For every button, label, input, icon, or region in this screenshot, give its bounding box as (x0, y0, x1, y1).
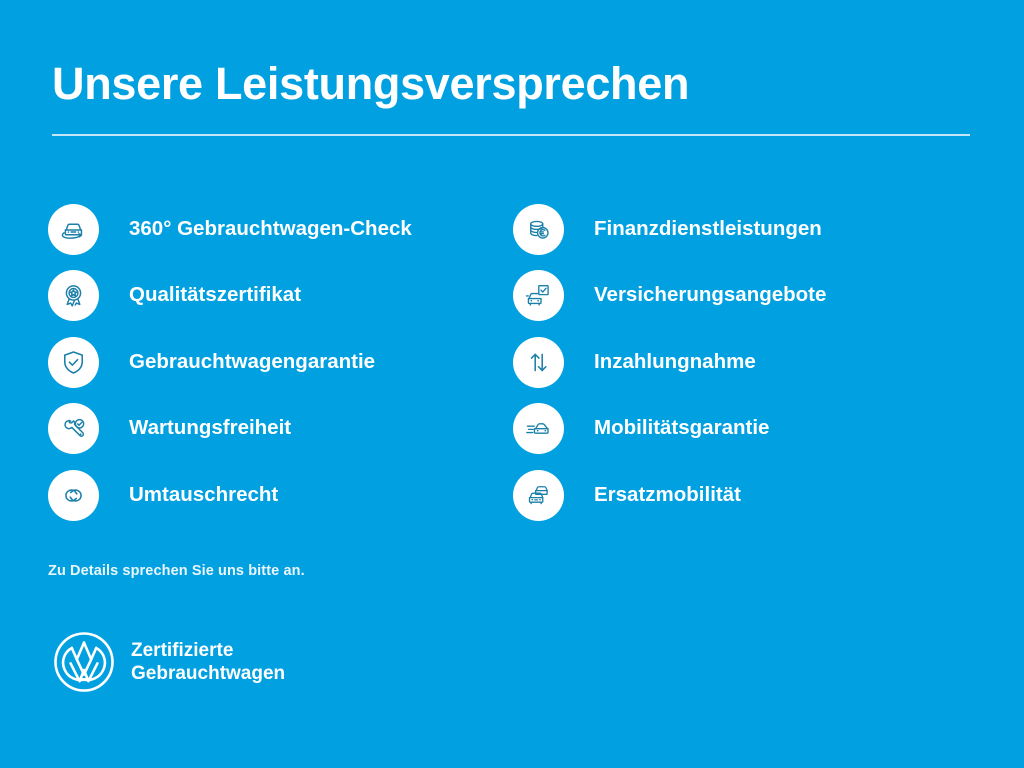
wrench-check-icon (48, 403, 99, 454)
feature-grid: 360° Gebrauchtwagen-Check Qualitätszerti… (48, 196, 978, 529)
feature-item-mobility-guarantee: Mobilitätsgarantie (513, 396, 978, 463)
feature-label: Inzahlungnahme (594, 350, 756, 375)
brand-text-line-1: Zertifizierte (131, 639, 285, 662)
feature-item-exchange-right: Umtauschrecht (48, 462, 513, 529)
feature-label: Wartungsfreiheit (129, 416, 291, 441)
two-cars-icon (513, 470, 564, 521)
feature-item-maintenance-free: Wartungsfreiheit (48, 396, 513, 463)
car-360-check-icon (48, 204, 99, 255)
header-divider (52, 134, 970, 136)
vw-logo-icon (50, 628, 118, 696)
page-title: Unsere Leistungsversprechen (52, 58, 972, 110)
feature-item-financial-services: Finanzdienstleistungen (513, 196, 978, 263)
header: Unsere Leistungsversprechen (52, 58, 972, 136)
feature-item-replacement-mobility: Ersatzmobilität (513, 462, 978, 529)
feature-item-insurance-offers: Versicherungsangebote (513, 263, 978, 330)
award-medal-icon (48, 270, 99, 321)
coins-euro-icon (513, 204, 564, 255)
feature-column-right: Finanzdienstleistungen (513, 196, 978, 529)
feature-item-360-check: 360° Gebrauchtwagen-Check (48, 196, 513, 263)
feature-column-left: 360° Gebrauchtwagen-Check Qualitätszerti… (48, 196, 513, 529)
footnote-text: Zu Details sprechen Sie uns bitte an. (48, 563, 305, 579)
feature-item-quality-certificate: Qualitätszertifikat (48, 263, 513, 330)
feature-label: Qualitätszertifikat (129, 283, 301, 308)
arrows-up-down-icon (513, 337, 564, 388)
feature-label: Mobilitätsgarantie (594, 416, 769, 441)
car-document-check-icon (513, 270, 564, 321)
feature-label: Gebrauchtwagengarantie (129, 350, 375, 375)
feature-item-trade-in: Inzahlungnahme (513, 329, 978, 396)
feature-label: Finanzdienstleistungen (594, 217, 822, 242)
feature-label: Versicherungsangebote (594, 283, 826, 308)
feature-item-warranty: Gebrauchtwagengarantie (48, 329, 513, 396)
feature-label: Ersatzmobilität (594, 483, 741, 508)
promise-slide: Unsere Leistungsversprechen (0, 0, 1024, 768)
feature-label: 360° Gebrauchtwagen-Check (129, 217, 412, 242)
feature-label: Umtauschrecht (129, 483, 278, 508)
brand-text-line-2: Gebrauchtwagen (131, 662, 285, 685)
shield-check-icon (48, 337, 99, 388)
car-speed-icon (513, 403, 564, 454)
brand-lockup: Zertifizierte Gebrauchtwagen (50, 628, 285, 696)
brand-text: Zertifizierte Gebrauchtwagen (131, 639, 285, 685)
exchange-arrows-icon (48, 470, 99, 521)
